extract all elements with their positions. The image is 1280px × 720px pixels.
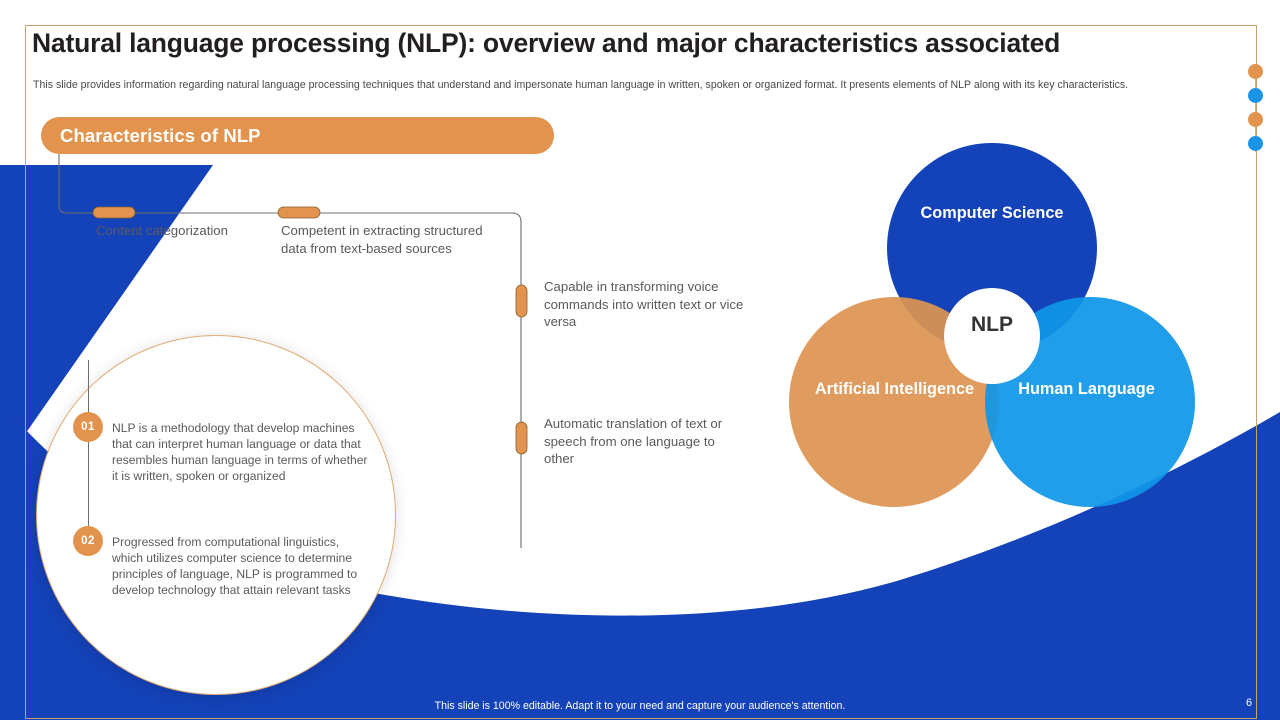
characteristic-stacked-1: Capable in transforming voice commands i… [544,278,744,331]
page-number: 6 [1246,697,1252,709]
characteristics-banner[interactable]: Characteristics of NLP [41,117,554,154]
characteristic-branch-1: Content categorization [96,222,256,240]
characteristic-branch-2: Competent in extracting structured data … [281,222,486,257]
definition-circle [36,335,396,695]
dot-orange-1-icon [1248,64,1263,79]
definition-circle-stem [88,360,89,545]
page-subtitle: This slide provides information regardin… [33,78,1163,93]
dot-blue-1-icon [1248,88,1263,103]
footer-note: This slide is 100% editable. Adapt it to… [0,700,1280,712]
point-badge-02: 02 [73,526,103,556]
venn-label-artificial-intelligence: Artificial Intelligence [812,378,977,400]
point-text-02: Progressed from computational linguistic… [112,534,368,598]
venn-label-nlp-core: NLP [932,313,1052,337]
page-title: Natural language processing (NLP): overv… [32,28,1212,58]
point-text-01: NLP is a methodology that develop machin… [112,420,368,484]
characteristic-stacked-2: Automatic translation of text or speech … [544,415,744,468]
venn-label-human-language: Human Language [1004,378,1169,400]
banner-label: Characteristics of NLP [60,125,261,147]
dot-orange-2-icon [1248,112,1263,127]
point-badge-01: 01 [73,412,103,442]
slide-canvas: Natural language processing (NLP): overv… [0,0,1280,720]
decorative-dot-column [1248,64,1264,152]
nlp-venn-diagram: Computer Science Artificial Intelligence… [782,130,1202,510]
venn-label-computer-science: Computer Science [912,202,1072,224]
dot-blue-2-icon [1248,136,1263,151]
